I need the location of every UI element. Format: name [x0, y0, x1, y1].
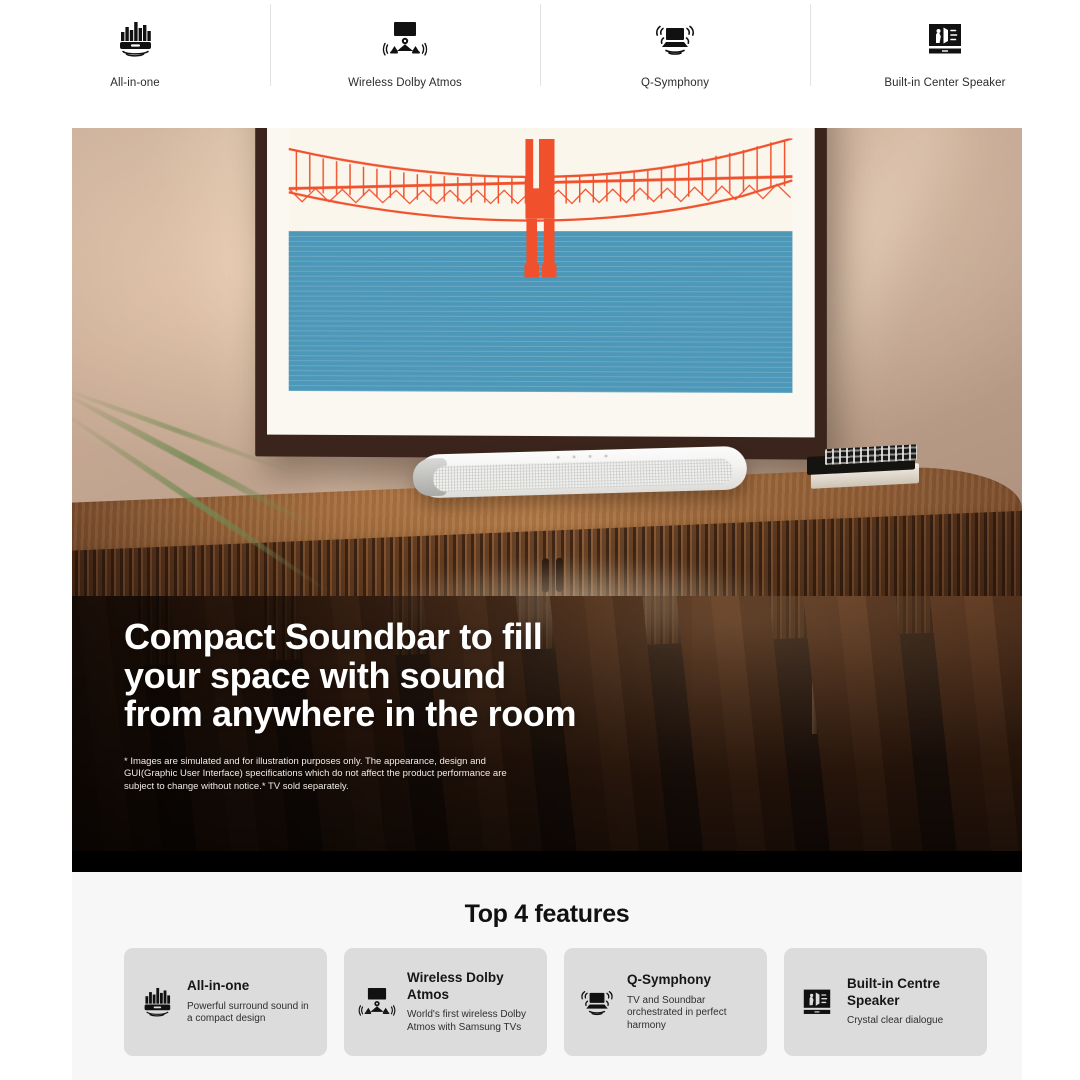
tv-atmos-speakers-icon [358, 983, 396, 1021]
feature-card-title: Wireless Dolby Atmos [407, 970, 537, 1003]
product-page: All-in-one [0, 0, 1080, 1080]
tv-dialogue-speaker-icon [798, 983, 836, 1021]
feature-card-text: Wireless Dolby Atmos World's first wirel… [407, 970, 537, 1034]
tv-atmos-speakers-icon [382, 16, 428, 62]
feature-card-title: Q-Symphony [627, 972, 757, 989]
feature-card-description: Crystal clear dialogue [847, 1015, 977, 1028]
tv-dialogue-speaker-icon [922, 16, 968, 62]
features-section: Top 4 features [72, 872, 1022, 1080]
soundbar-equalizer-icon [112, 16, 158, 62]
tv-soundwaves-icon [652, 16, 698, 62]
nav-item-label: Built-in Center Speaker [884, 77, 1005, 89]
feature-card-q-symphony[interactable]: Q-Symphony TV and Soundbar orchestrated … [564, 948, 767, 1056]
feature-card-text: Built-in Centre Speaker Crystal clear di… [847, 976, 977, 1028]
nav-item-q-symphony[interactable]: Q-Symphony [540, 0, 810, 116]
feature-card-title: All-in-one [187, 978, 317, 995]
hero-disclaimer: * Images are simulated and for illustrat… [124, 756, 529, 794]
feature-card-description: World's first wireless Dolby Atmos with … [407, 1009, 537, 1034]
nav-item-all-in-one[interactable]: All-in-one [0, 0, 270, 116]
nav-item-label: All-in-one [110, 77, 160, 89]
feature-card-list: All-in-one Powerful surround sound in a … [124, 948, 987, 1056]
feature-card-wireless-dolby-atmos[interactable]: Wireless Dolby Atmos World's first wirel… [344, 948, 547, 1056]
hero-banner: Compact Soundbar to fill your space with… [72, 128, 1022, 872]
feature-card-title: Built-in Centre Speaker [847, 976, 977, 1009]
features-heading: Top 4 features [72, 872, 1022, 929]
feature-card-text: Q-Symphony TV and Soundbar orchestrated … [627, 972, 757, 1032]
feature-card-description: Powerful surround sound in a compact des… [187, 1001, 317, 1026]
hero-bottom-bar [72, 851, 1022, 872]
nav-item-built-in-center-speaker[interactable]: Built-in Center Speaker [810, 0, 1080, 116]
hero-headline: Compact Soundbar to fill your space with… [124, 618, 584, 734]
feature-card-all-in-one[interactable]: All-in-one Powerful surround sound in a … [124, 948, 327, 1056]
feature-card-description: TV and Soundbar orchestrated in perfect … [627, 995, 757, 1033]
feature-card-text: All-in-one Powerful surround sound in a … [187, 978, 317, 1026]
feature-card-built-in-centre-speaker[interactable]: Built-in Centre Speaker Crystal clear di… [784, 948, 987, 1056]
nav-item-wireless-dolby-atmos[interactable]: Wireless Dolby Atmos [270, 0, 540, 116]
tv-soundwaves-icon [578, 983, 616, 1021]
soundbar-equalizer-icon [138, 983, 176, 1021]
feature-nav-bar: All-in-one [0, 0, 1080, 116]
nav-item-label: Q-Symphony [641, 77, 709, 89]
hero-copy-block: Compact Soundbar to fill your space with… [124, 618, 584, 793]
nav-item-label: Wireless Dolby Atmos [348, 77, 462, 89]
